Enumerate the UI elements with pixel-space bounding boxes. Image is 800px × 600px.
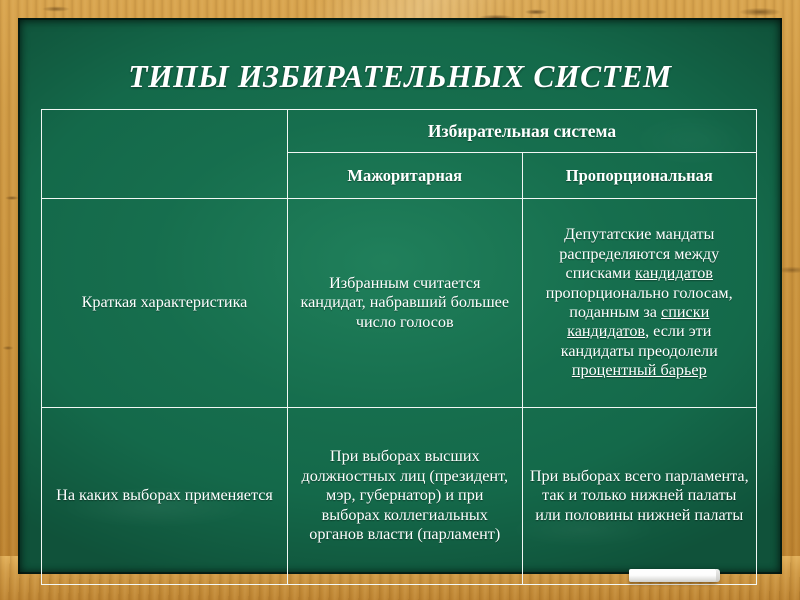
cell-proportional-brief-characteristic: Депутатские мандаты распределяются между…: [522, 199, 757, 408]
election-systems-table: Избирательная система Мажоритарная Пропо…: [41, 109, 757, 549]
table-header-majoritarian: Мажоритарная: [288, 153, 523, 199]
cell-majoritarian-where-applied: При выборах высших должностных лиц (през…: [288, 408, 523, 585]
table-row: Краткая характеристика Избранным считает…: [42, 199, 757, 408]
table-header-row-group: Избирательная система: [42, 110, 757, 153]
table-header-corner-cell: [42, 110, 288, 199]
chalk-stick[interactable]: [629, 569, 718, 582]
table-header-proportional: Пропорциональная: [522, 153, 757, 199]
row-label-brief-characteristic: Краткая характеристика: [42, 199, 288, 408]
chalkboard-content: ТИПЫ ИЗБИРАТЕЛЬНЫХ СИСТЕМ Избирательная …: [18, 18, 782, 574]
table-header-group-title: Избирательная система: [288, 110, 757, 153]
cell-majoritarian-brief-characteristic: Избранным считается кандидат, набравший …: [288, 199, 523, 408]
chalkboard-surface: ТИПЫ ИЗБИРАТЕЛЬНЫХ СИСТЕМ Избирательная …: [18, 18, 782, 574]
slide-chalkboard: ТИПЫ ИЗБИРАТЕЛЬНЫХ СИСТЕМ Избирательная …: [0, 0, 800, 600]
page-title: ТИПЫ ИЗБИРАТЕЛЬНЫХ СИСТЕМ: [18, 59, 782, 95]
table: Избирательная система Мажоритарная Пропо…: [41, 109, 757, 585]
cell-proportional-where-applied: При выборах всего парламента, так и толь…: [522, 408, 757, 585]
table-row: На каких выборах применяется При выборах…: [42, 408, 757, 585]
row-label-where-applied: На каких выборах применяется: [42, 408, 288, 585]
